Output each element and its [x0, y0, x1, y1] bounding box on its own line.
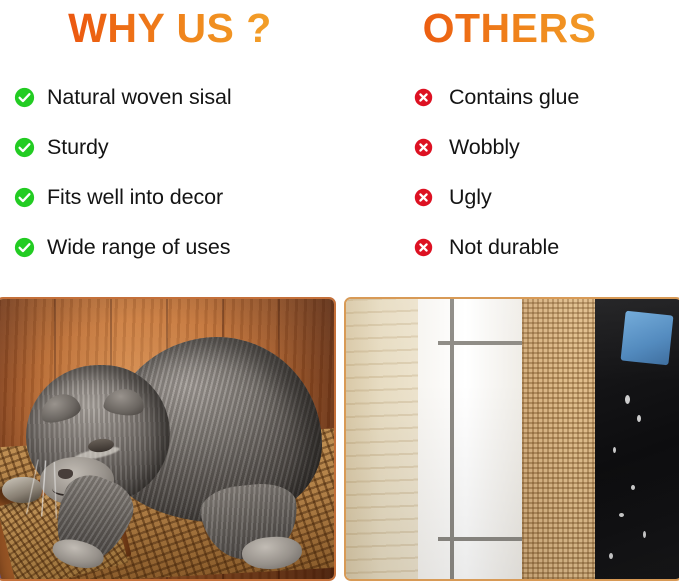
list-item-label: Ugly [449, 185, 492, 210]
cat [20, 329, 320, 557]
wire-rack-horizontal-bottom [438, 537, 526, 541]
list-item: Not durable [414, 222, 679, 272]
comparison-infographic: WHY US ? OTHERS Natural woven sisal Stur… [0, 0, 679, 577]
list-item-label: Wobbly [449, 135, 520, 160]
cat-ear-left [37, 390, 83, 426]
check-circle-icon [14, 187, 35, 208]
cons-title: OTHERS [340, 2, 679, 54]
debris-speck [637, 415, 641, 422]
debris-speck [613, 447, 616, 453]
cross-circle-icon [414, 188, 433, 207]
list-item: Wide range of uses [14, 222, 340, 272]
cross-circle-icon [414, 138, 433, 157]
cat-ear-right [103, 387, 145, 417]
debris-speck [625, 395, 630, 404]
dark-panel [595, 299, 679, 579]
frayed-mat-scene [346, 299, 679, 579]
list-item: Wobbly [414, 122, 679, 172]
debris-speck [609, 553, 613, 559]
list-item: Contains glue [414, 72, 679, 122]
pros-title: WHY US ? [0, 2, 340, 54]
list-item-label: Sturdy [47, 135, 109, 160]
cat-photo-scene [0, 299, 334, 579]
cross-circle-icon [414, 88, 433, 107]
blue-tape-patch [621, 311, 674, 366]
list-item: Natural woven sisal [14, 72, 340, 122]
list-item: Sturdy [14, 122, 340, 172]
check-circle-icon [14, 137, 35, 158]
debris-speck [631, 485, 635, 490]
feature-columns: Natural woven sisal Sturdy Fits well int… [0, 72, 679, 284]
pros-list: Natural woven sisal Sturdy Fits well int… [14, 72, 340, 272]
photos-row [0, 297, 679, 577]
cross-circle-icon [414, 238, 433, 257]
list-item-label: Wide range of uses [47, 235, 230, 260]
debris-speck [619, 513, 624, 517]
list-item-label: Not durable [449, 235, 559, 260]
cons-list: Contains glue Wobbly Ugly [414, 72, 679, 272]
wire-rack-horizontal-top [438, 341, 526, 345]
check-circle-icon [14, 237, 35, 258]
list-item: Fits well into decor [14, 172, 340, 222]
list-item-label: Natural woven sisal [47, 85, 232, 110]
list-item: Ugly [414, 172, 679, 222]
debris-speck [643, 531, 646, 538]
titles-row: WHY US ? OTHERS [0, 0, 679, 62]
list-item-label: Contains glue [449, 85, 579, 110]
frayed-sisal-mat-photo [344, 297, 679, 581]
cat-on-sisal-mat-photo [0, 297, 336, 581]
list-item-label: Fits well into decor [47, 185, 223, 210]
check-circle-icon [14, 87, 35, 108]
